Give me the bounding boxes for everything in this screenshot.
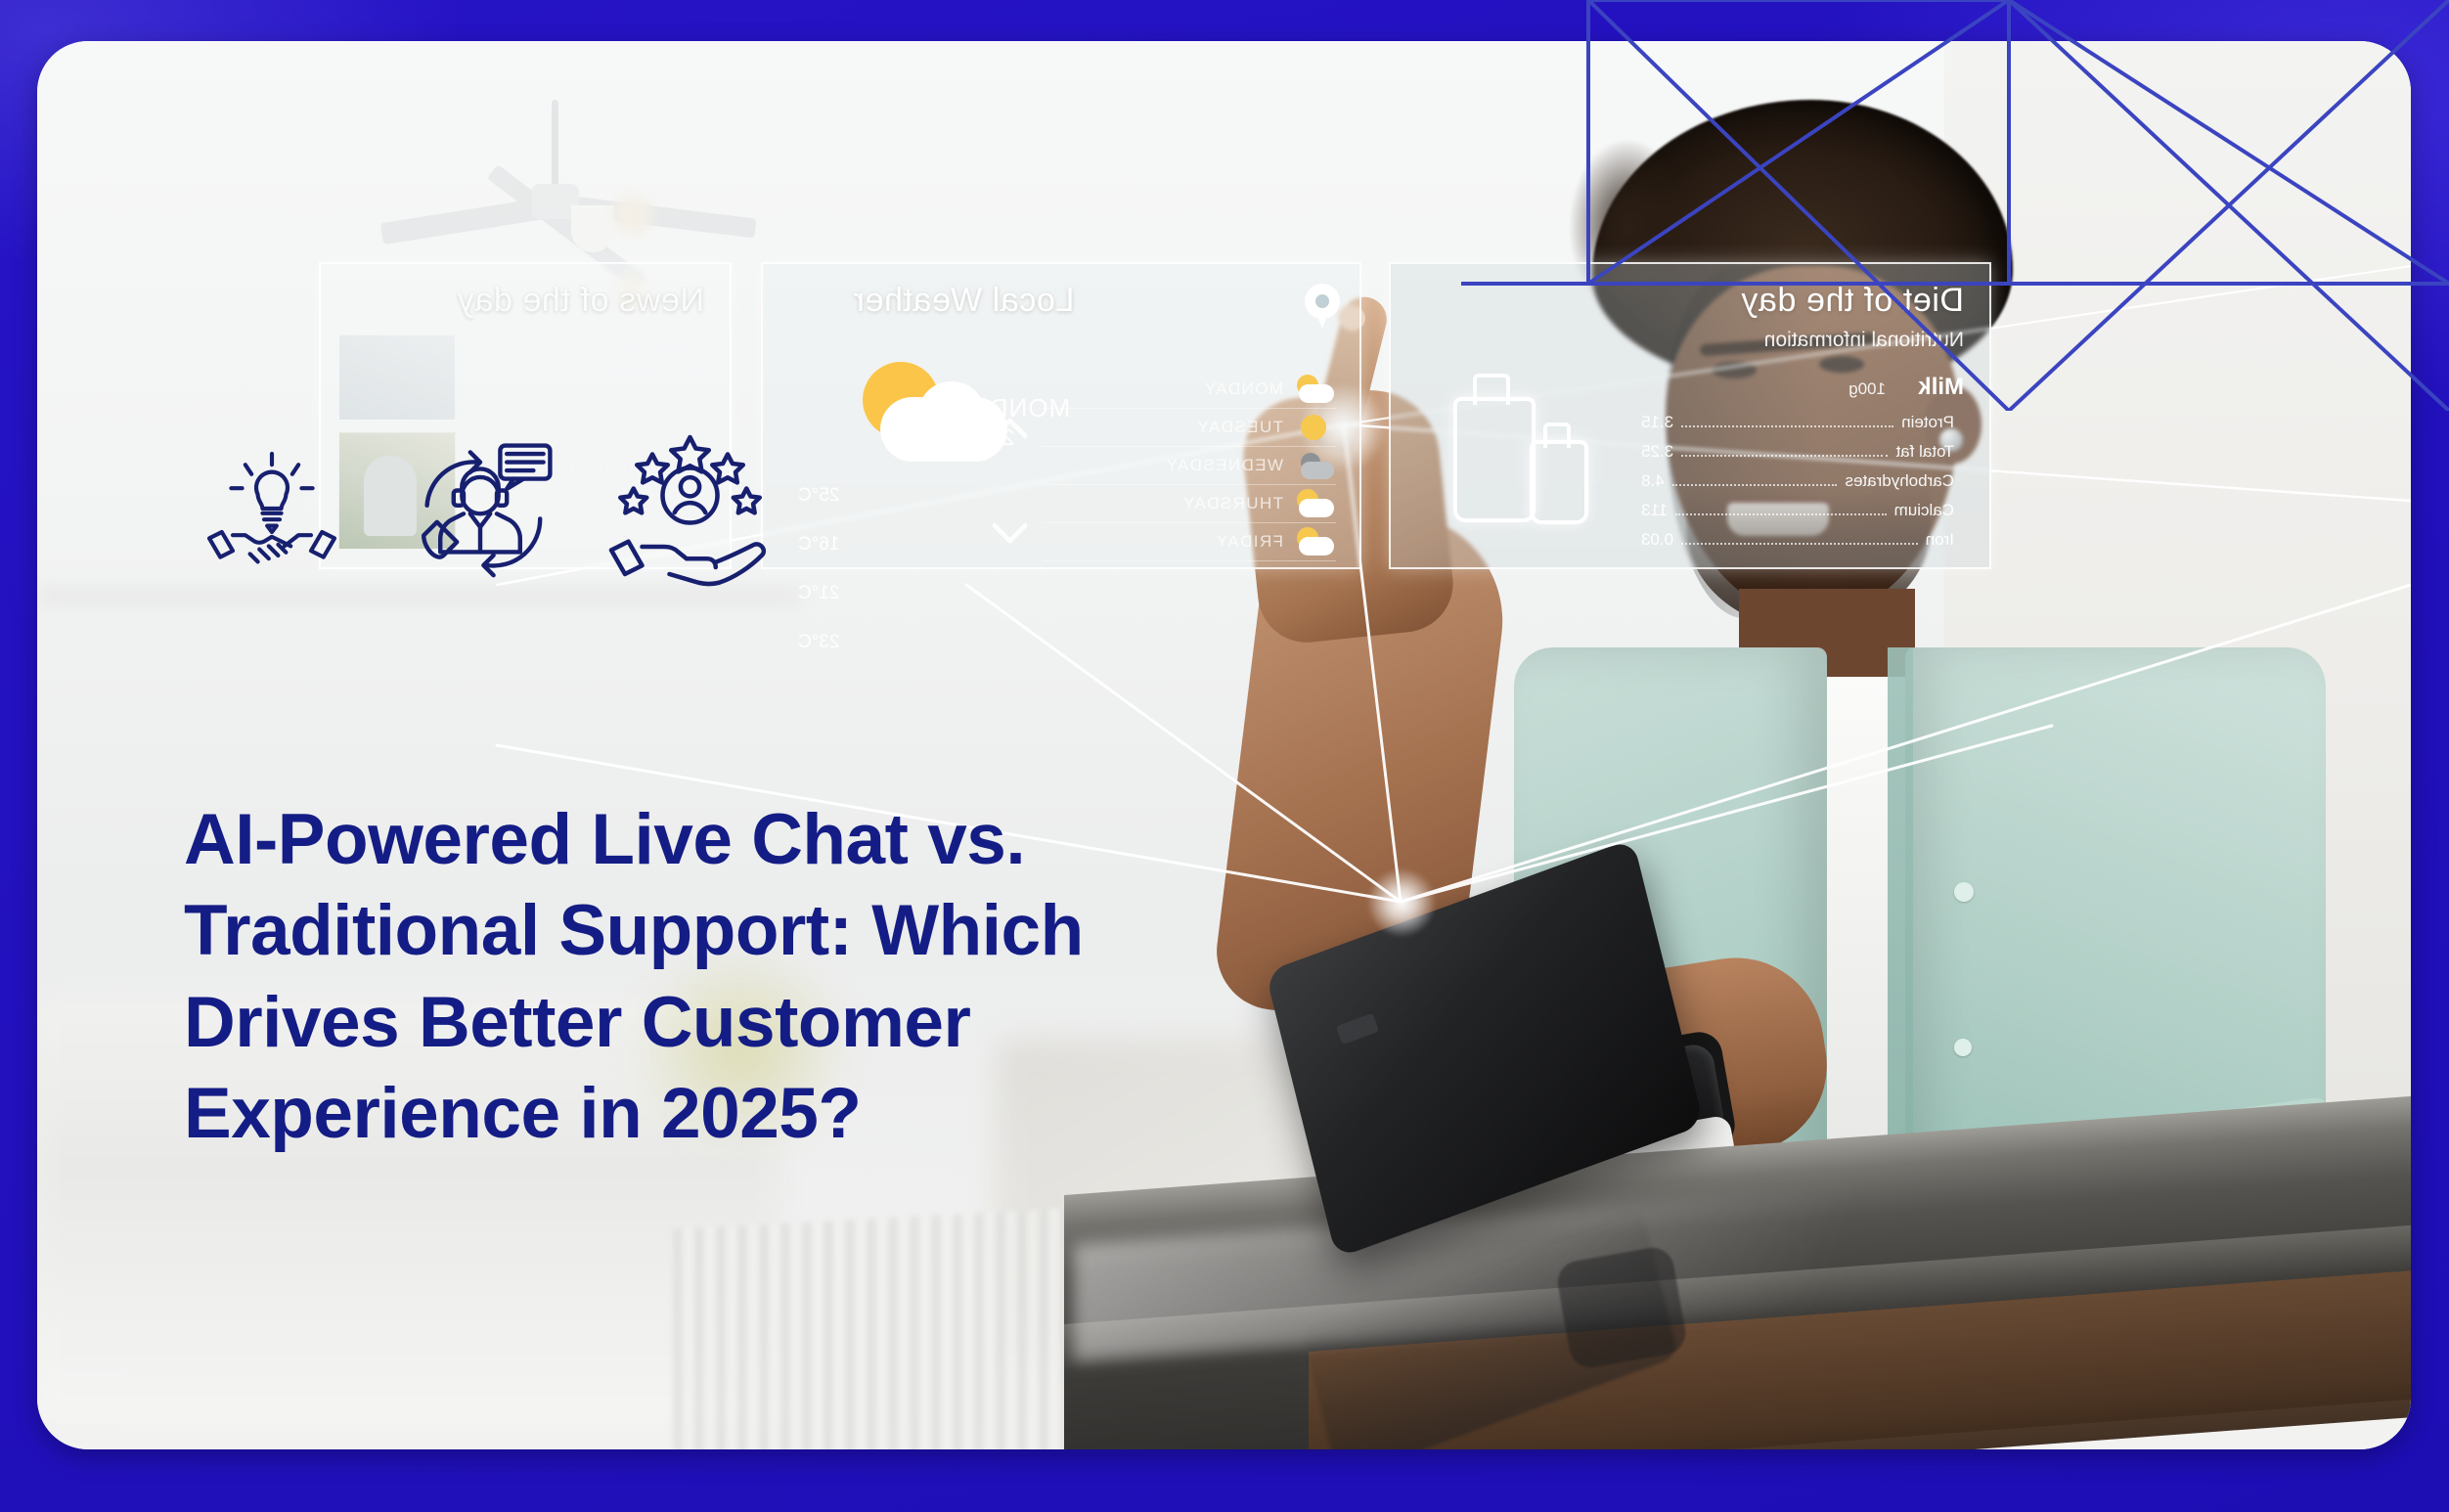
title-line-1: AI-Powered Live Chat vs. (184, 794, 1338, 885)
weather-row[interactable]: TUESDAY (1043, 409, 1336, 447)
weather-row[interactable]: FRIDAY (1043, 523, 1336, 561)
current-temperature: 22°C (964, 424, 1014, 451)
title-line-2: Traditional Support: Which (184, 885, 1338, 976)
nutrient-name: Calcium (1894, 501, 1954, 520)
temp-value: 21°C (798, 583, 839, 604)
weather-forecast-list[interactable]: MONDAY TUESDAY WEDNESDAY THURSDAY FRIDAY (1043, 370, 1336, 561)
partly-cloudy-icon (1291, 489, 1336, 518)
fingertip-glow (1367, 868, 1436, 937)
nutrient-name: Iron (1926, 530, 1954, 550)
weather-day-label: TUESDAY (1196, 418, 1291, 437)
dot-leader (1681, 543, 1918, 545)
cloudy-icon (1291, 451, 1336, 480)
nutrient-value: 113 (1641, 501, 1668, 520)
weather-row[interactable]: MONDAY (1043, 370, 1336, 409)
temp-value: 23°C (798, 632, 839, 653)
page-title: AI-Powered Live Chat vs. Traditional Sup… (184, 794, 1338, 1160)
weather-panel-title: Local Weather (853, 282, 1074, 320)
nutrient-value: 3.25 (1641, 442, 1673, 462)
nutrient-value: 4.8 (1641, 471, 1665, 491)
temperature-column: 25°C 16°C 21°C 23°C (798, 485, 839, 653)
news-thumbnail-travel (338, 334, 456, 421)
weather-row[interactable]: WEDNESDAY (1043, 447, 1336, 485)
milk-bottles-icon (1442, 391, 1588, 528)
diet-panel-title: Diet of the day (1741, 282, 1964, 320)
background-photo (37, 41, 2411, 1449)
dot-leader (1675, 513, 1886, 515)
diet-serving-size: 100g (1848, 379, 1886, 399)
watch-reflection (1554, 1244, 1688, 1370)
title-line-4: Experience in 2025? (184, 1068, 1338, 1159)
feature-icon-row (194, 438, 741, 604)
dot-leader (1681, 425, 1893, 427)
weather-day-label: THURSDAY (1182, 494, 1291, 513)
nutrient-value: 0.03 (1641, 530, 1673, 550)
diet-subtitle: Nutritional information (1764, 329, 1964, 352)
nutrition-row: Total fat 3.25 (1641, 442, 1954, 462)
panel-local-weather[interactable]: Local Weather MONDAY TUESDAY WEDNESDAY T… (761, 262, 1361, 569)
nutrition-list: Protein 3.15 Total fat 3.25 Carbohydrate… (1641, 413, 1954, 559)
temp-value: 16°C (798, 534, 839, 556)
nutrition-row: Calcium 113 (1641, 501, 1954, 520)
nutrition-row: Iron 0.03 (1641, 530, 1954, 550)
partly-cloudy-icon (1291, 375, 1336, 404)
map-pin-icon (1305, 284, 1340, 329)
support-agent-cycle-icon (397, 432, 563, 599)
weather-day-label: WEDNESDAY (1165, 456, 1291, 475)
nutrient-name: Total fat (1895, 442, 1954, 462)
weather-day-label: MONDAY (1203, 379, 1291, 399)
news-headline: 5 vacation destinations (489, 338, 704, 387)
news-panel-title: News of the day (457, 282, 704, 320)
nutrient-name: Protein (1901, 413, 1954, 432)
chevron-down-icon[interactable] (984, 511, 1027, 532)
partly-cloudy-icon (1291, 527, 1336, 556)
idea-handshake-icon (194, 438, 350, 595)
temp-value: 25°C (798, 485, 839, 507)
sunny-icon (1291, 413, 1336, 442)
title-line-3: Drives Better Customer (184, 977, 1338, 1068)
nutrition-row: Protein 3.15 (1641, 413, 1954, 432)
shirt-button-top (1954, 882, 1974, 902)
nutrient-name: Carbohydrates (1845, 471, 1954, 491)
weather-row[interactable]: THURSDAY (1043, 485, 1336, 523)
customer-rating-hand-icon (604, 430, 776, 601)
nutrient-value: 3.15 (1641, 413, 1673, 432)
current-day-label: MONDAY (955, 393, 1070, 423)
content-card: News of the day 5 vacation destinations … (37, 41, 2411, 1449)
shirt-button-bottom (1954, 1039, 1972, 1056)
dot-leader (1672, 484, 1838, 486)
dot-leader (1681, 455, 1888, 457)
diet-food-name: Milk (1918, 374, 1964, 401)
weather-day-label: FRIDAY (1216, 532, 1291, 552)
panel-diet-of-the-day[interactable]: Diet of the day Nutritional information … (1389, 262, 1991, 569)
nutrition-row: Carbohydrates 4.8 (1641, 471, 1954, 491)
